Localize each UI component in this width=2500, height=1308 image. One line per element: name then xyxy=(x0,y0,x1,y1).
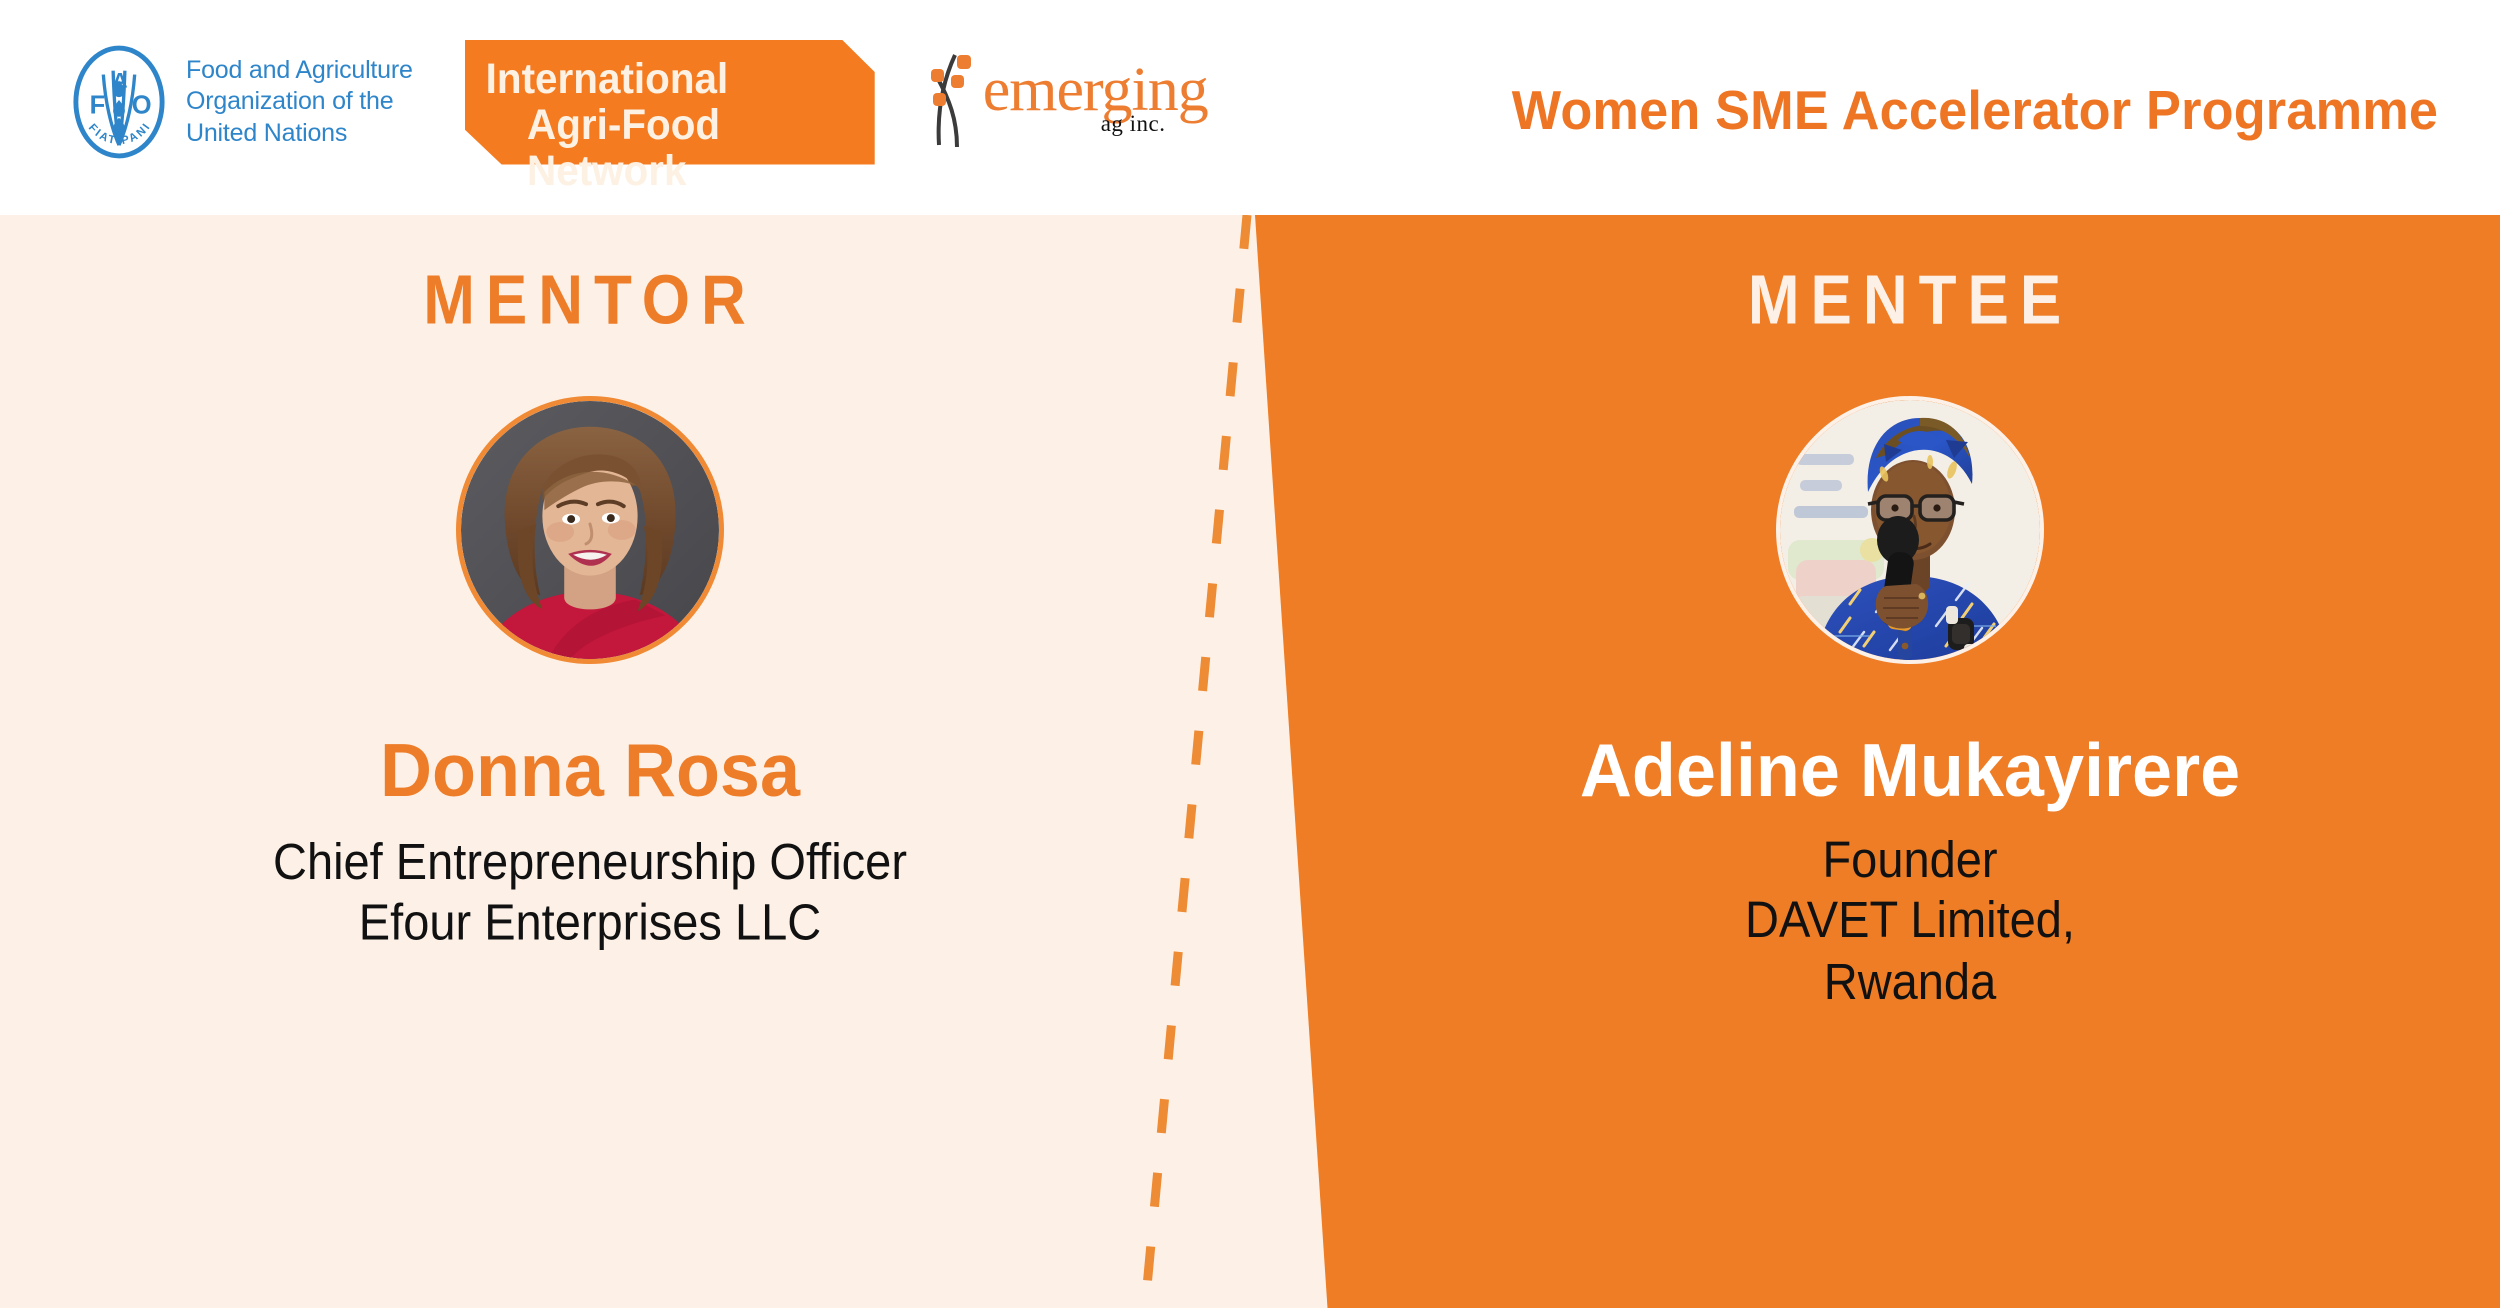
svg-text:F: F xyxy=(90,92,106,120)
mentor-card: MENTOR xyxy=(0,215,1180,1308)
page-title: Women SME Accelerator Programme xyxy=(1512,78,2438,142)
svg-text:O: O xyxy=(132,92,152,120)
poster-root: F A O FIAT PANIS Food and Agriculture Or… xyxy=(0,0,2500,1308)
header-bar: F A O FIAT PANIS Food and Agriculture Or… xyxy=(0,0,2500,215)
mentor-title: Chief Entrepreneurship Officer Efour Ent… xyxy=(0,831,1180,953)
fao-logo-text: Food and Agriculture Organization of the… xyxy=(186,55,413,150)
emerging-wordmark: emerging xyxy=(983,59,1208,121)
iafn-logo-text: International Agri-Food Network xyxy=(465,40,850,165)
mentor-name: Donna Rosa xyxy=(0,728,1180,814)
iafn-logo: International Agri-Food Network xyxy=(465,40,875,165)
mentor-avatar xyxy=(456,396,724,664)
panels-container: MENTOR xyxy=(0,215,2500,1308)
mentee-role-label: MENTEE xyxy=(1320,261,2500,341)
mentee-title: Founder DAVET Limited, Rwanda xyxy=(1320,829,2500,1012)
mentee-card: MENTEE xyxy=(1320,215,2500,1308)
mentee-avatar xyxy=(1776,396,2044,664)
iafn-line-1: International xyxy=(485,55,728,103)
mentee-name: Adeline Mukayirere xyxy=(1320,728,2500,814)
mentor-role-label: MENTOR xyxy=(0,261,1180,341)
svg-text:A: A xyxy=(112,67,128,92)
logo-row: F A O FIAT PANIS Food and Agriculture Or… xyxy=(70,22,1213,182)
fao-logo: F A O FIAT PANIS Food and Agriculture Or… xyxy=(70,43,413,161)
iafn-line-2: Agri-Food Network xyxy=(485,102,850,194)
fao-emblem-icon: F A O FIAT PANIS xyxy=(70,43,168,161)
emerging-sub-wordmark: ag inc. xyxy=(1101,111,1166,137)
mentee-photo xyxy=(1780,400,2040,660)
emerging-ag-logo: emerging ag inc. xyxy=(923,47,1213,157)
mentor-photo xyxy=(461,401,719,659)
